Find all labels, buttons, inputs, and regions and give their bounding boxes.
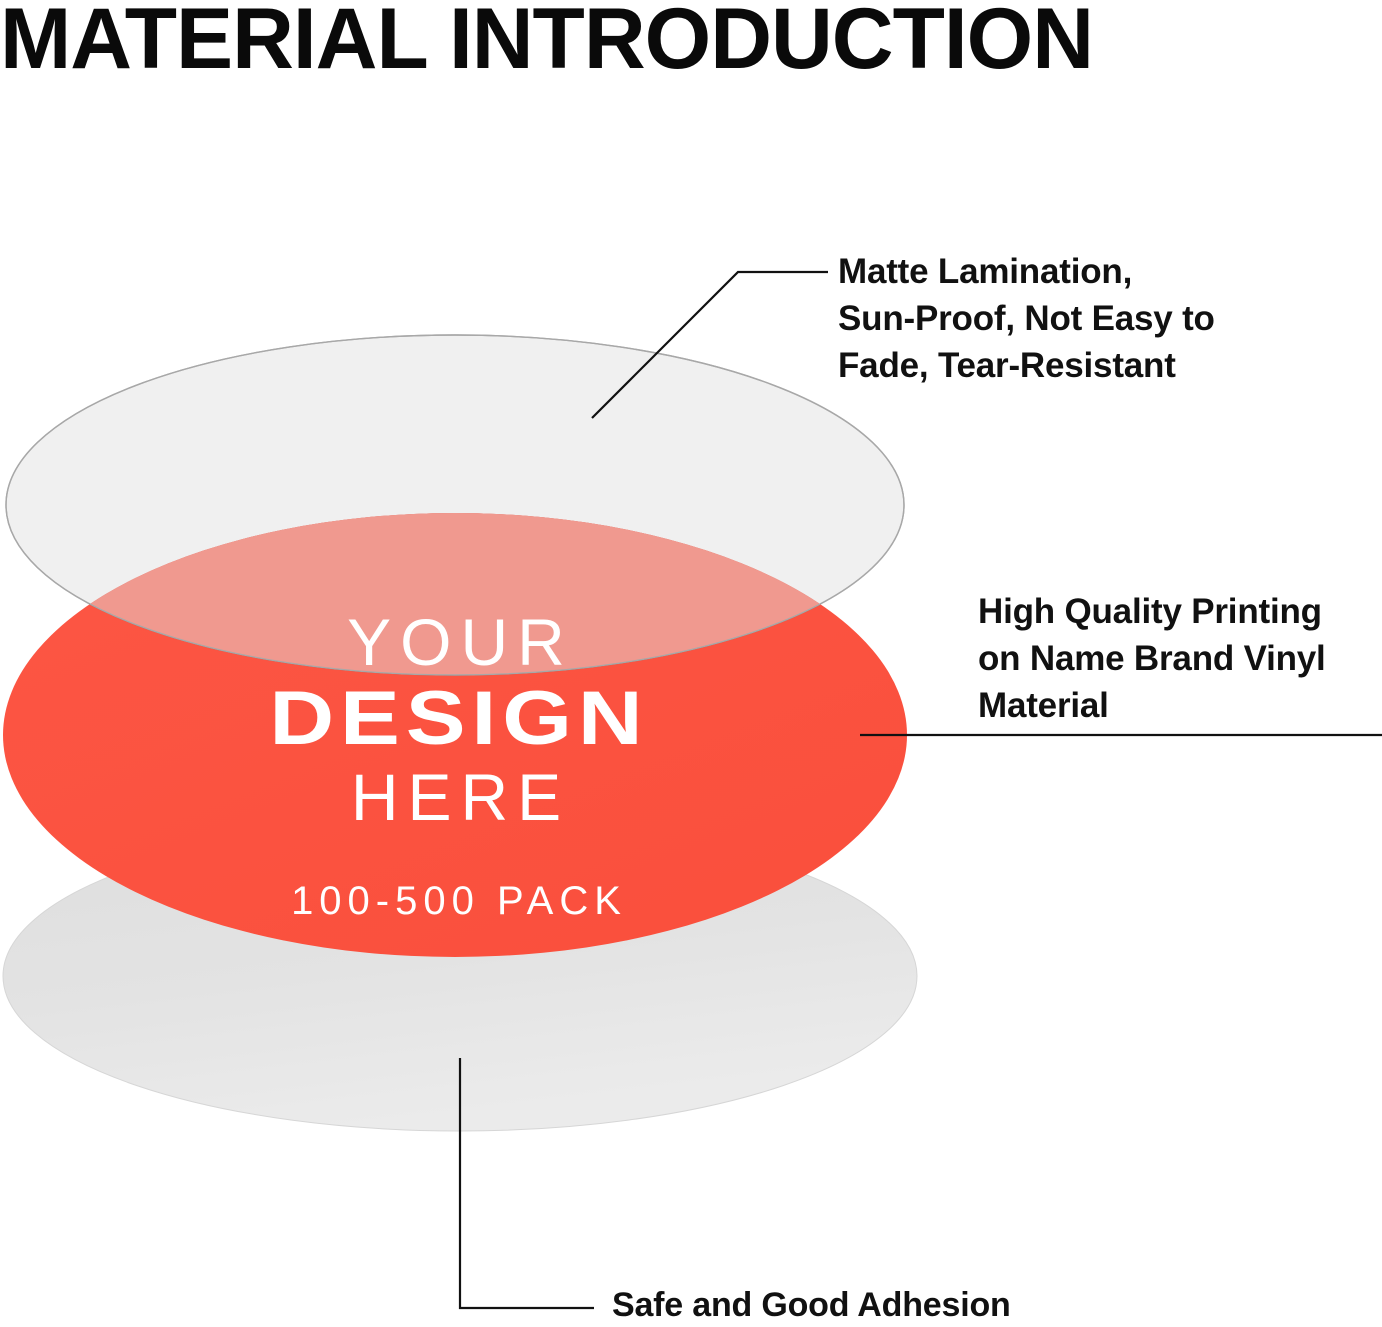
annotation-lamination-line-3: Fade, Tear-Resistant [838, 342, 1215, 389]
annotation-matte-lamination: Matte Lamination, Sun-Proof, Not Easy to… [838, 248, 1215, 389]
annotation-adhesion-line-1: Safe and Good Adhesion [612, 1285, 1011, 1325]
annotation-printing-line-3: Material [978, 682, 1326, 729]
annotation-lamination-line-2: Sun-Proof, Not Easy to [838, 295, 1215, 342]
annotation-printing-line-1: High Quality Printing [978, 588, 1326, 635]
annotation-printing-line-2: on Name Brand Vinyl [978, 635, 1326, 682]
annotation-lamination-line-1: Matte Lamination, [838, 248, 1215, 295]
annotation-high-quality-printing: High Quality Printing on Name Brand Viny… [978, 588, 1326, 729]
annotation-safe-good-adhesion: Safe and Good Adhesion [612, 1285, 1011, 1325]
